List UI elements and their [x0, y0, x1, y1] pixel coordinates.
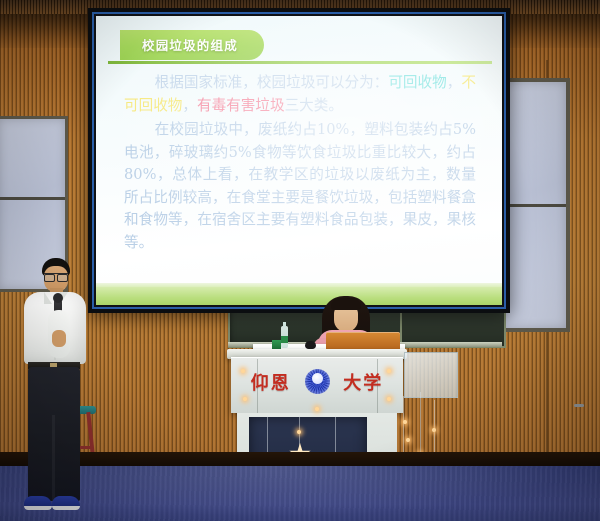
- lecture-hall-photo: 校园垃圾的组成 根据国家标准，校园垃圾可以分为：可回收物，不可回收物，有毒有害垃…: [0, 0, 600, 521]
- speaker-trousers: [28, 367, 80, 501]
- shoe: [24, 496, 52, 510]
- slide-paragraph-2: 在校园垃圾中，废纸约占10%，塑料包装约占5%电池，碎玻璃约5%食物等饮食垃圾比…: [124, 119, 476, 254]
- shoe-sole: [24, 506, 52, 510]
- separator-2: ，: [182, 97, 197, 114]
- shirt-collar: [44, 292, 52, 304]
- shoe: [52, 496, 80, 510]
- category-recyclable: 可回收物: [388, 74, 446, 91]
- slide-band-green: [96, 287, 502, 305]
- light-bulb: [241, 369, 245, 373]
- light-bulb: [403, 420, 407, 424]
- light-bulb: [432, 428, 436, 432]
- panel-divider: [0, 197, 65, 200]
- eyeglasses-icon: [44, 273, 68, 280]
- speaker-hand: [52, 330, 66, 347]
- bottle-label: [281, 336, 288, 343]
- light-bulb: [243, 397, 247, 401]
- presenting-student: [16, 258, 94, 516]
- university-emblem-icon: [305, 369, 330, 394]
- seated-fringe: [331, 298, 361, 310]
- light-bulb: [387, 397, 391, 401]
- light-bulb: [406, 438, 410, 442]
- slide-body-text: 根据国家标准，校园垃圾可以分为：可回收物，不可回收物，有毒有害垃圾三大类。 在校…: [124, 72, 476, 256]
- light-bulb: [297, 430, 301, 434]
- panel-divider: [502, 204, 566, 207]
- computer-mouse[interactable]: [305, 341, 316, 349]
- university-name-left: 仰恩: [251, 373, 291, 394]
- shoe-sole: [52, 506, 80, 510]
- category-hazardous: 有毒有害垃圾: [197, 97, 285, 114]
- projection-screen-frame: 校园垃圾的组成 根据国家标准，校园垃圾可以分为：可回收物，不可回收物，有毒有害垃…: [88, 8, 510, 313]
- door-handle-icon[interactable]: [574, 404, 584, 407]
- glass-panel: [404, 352, 458, 398]
- slide-paragraph-1: 根据国家标准，校园垃圾可以分为：可回收物，不可回收物，有毒有害垃圾三大类。: [124, 72, 476, 117]
- university-name-right: 大学: [343, 373, 383, 394]
- light-bulb: [387, 369, 391, 373]
- presentation-slide: 校园垃圾的组成 根据国家标准，校园垃圾可以分为：可回收物，不可回收物，有毒有害垃…: [96, 16, 502, 305]
- slide-title: 校园垃圾的组成: [120, 30, 264, 60]
- separator-1: ，: [447, 74, 462, 91]
- light-bulb: [315, 407, 319, 411]
- slide-title-rule: [108, 61, 492, 64]
- paragraph1-lead: 根据国家标准，校园垃圾可以分为：: [155, 74, 389, 91]
- projection-screen: 校园垃圾的组成 根据国家标准，校园垃圾可以分为：可回收物，不可回收物，有毒有害垃…: [92, 12, 506, 309]
- paragraph1-tail: 三大类。: [285, 97, 343, 114]
- green-box: [272, 340, 281, 349]
